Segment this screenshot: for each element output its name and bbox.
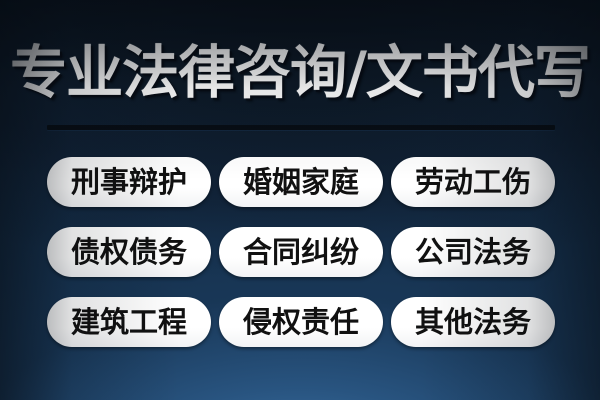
poster-canvas: 专业法律咨询/文书代写 刑事辩护 婚姻家庭 劳动工伤 债权债务 合同纠纷 公司法…: [0, 0, 600, 400]
service-pill-grid: 刑事辩护 婚姻家庭 劳动工伤 债权债务 合同纠纷 公司法务 建筑工程: [47, 157, 555, 347]
service-pill-label: 刑事辩护: [71, 168, 187, 197]
service-pill-label: 债权债务: [71, 238, 187, 267]
service-pill-label: 合同纠纷: [243, 238, 359, 267]
page-title: 专业法律咨询/文书代写: [10, 45, 590, 102]
service-pill-tort-liability[interactable]: 侵权责任: [219, 297, 383, 347]
service-pill-label: 公司法务: [415, 238, 531, 267]
service-pill-creditor-debt[interactable]: 债权债务: [47, 227, 211, 277]
service-pill-contract-dispute[interactable]: 合同纠纷: [219, 227, 383, 277]
service-pill-row: 债权债务 合同纠纷 公司法务: [47, 227, 555, 277]
service-pill-label: 建筑工程: [71, 308, 187, 337]
service-pill-corporate-legal[interactable]: 公司法务: [391, 227, 555, 277]
service-pill-construction-engineering[interactable]: 建筑工程: [47, 297, 211, 347]
service-pill-other-legal[interactable]: 其他法务: [391, 297, 555, 347]
service-pill-label: 婚姻家庭: [243, 168, 359, 197]
service-pill-row: 建筑工程 侵权责任 其他法务: [47, 297, 555, 347]
title-divider: [47, 125, 555, 130]
service-pill-labor-injury[interactable]: 劳动工伤: [391, 157, 555, 207]
service-pill-row: 刑事辩护 婚姻家庭 劳动工伤: [47, 157, 555, 207]
service-pill-criminal-defense[interactable]: 刑事辩护: [47, 157, 211, 207]
headline-container: 专业法律咨询/文书代写: [0, 30, 600, 116]
service-pill-label: 劳动工伤: [415, 168, 531, 197]
service-pill-label: 侵权责任: [243, 308, 359, 337]
service-pill-label: 其他法务: [415, 308, 531, 337]
service-pill-marriage-family[interactable]: 婚姻家庭: [219, 157, 383, 207]
